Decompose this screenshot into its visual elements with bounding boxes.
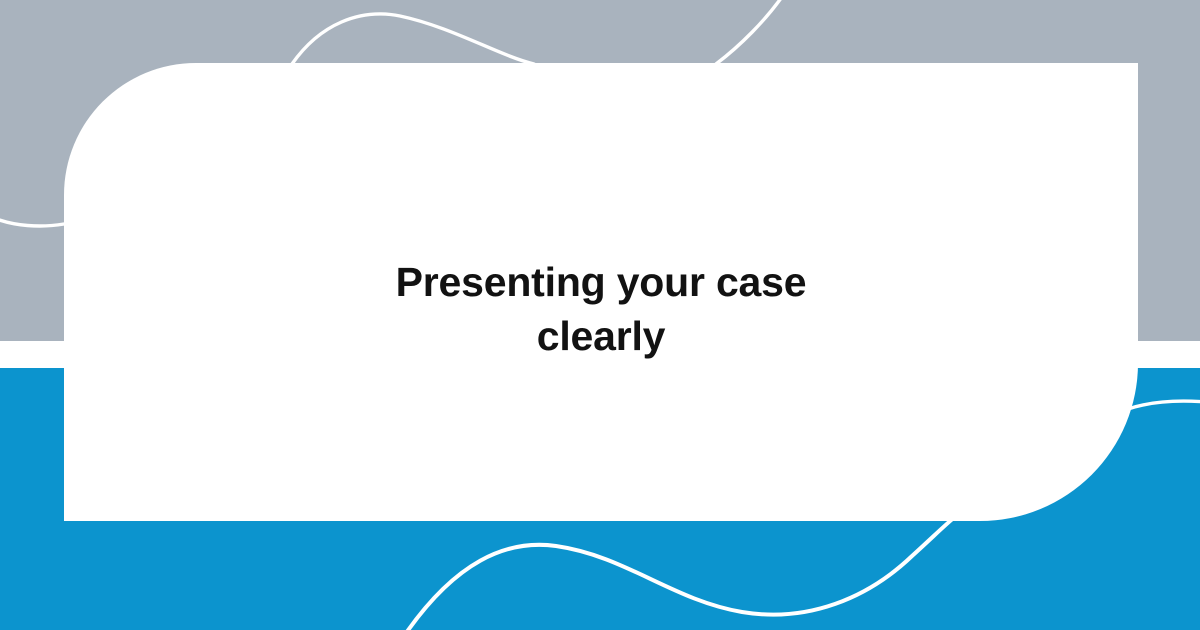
slide-canvas: Presenting your case clearly — [0, 0, 1200, 630]
slide-title: Presenting your case clearly — [351, 255, 851, 363]
title-container: Presenting your case clearly — [64, 255, 1138, 363]
